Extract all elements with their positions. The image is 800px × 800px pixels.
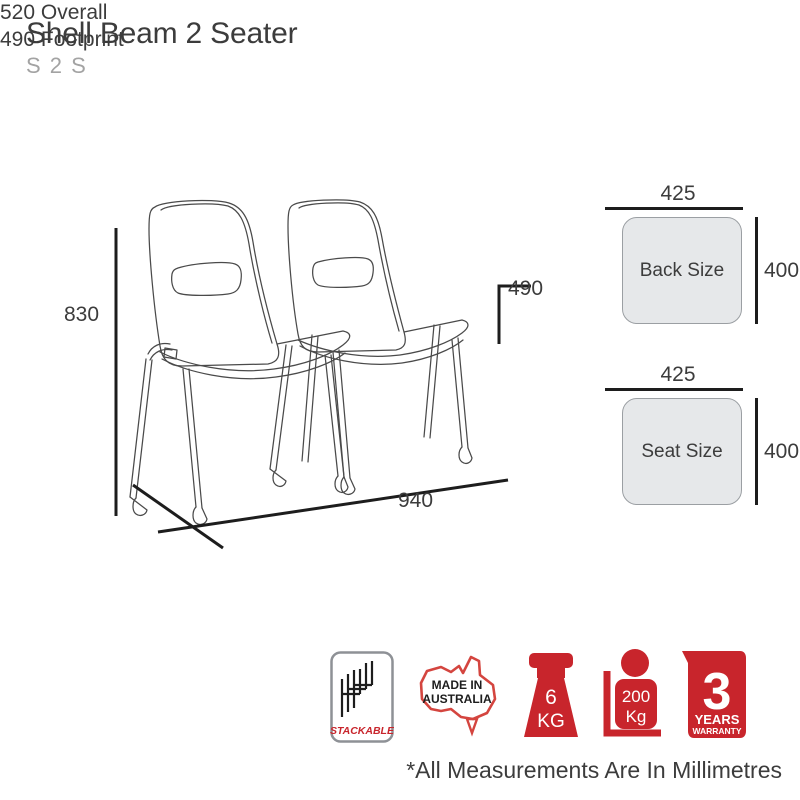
back-size-height-rule xyxy=(755,217,758,324)
seat-size-panel: 425 Seat Size 400 xyxy=(605,363,799,505)
seat-size-height-rule xyxy=(755,398,758,505)
depth-dimension-label: 490 xyxy=(508,277,543,301)
capacity-unit: Kg xyxy=(626,707,647,726)
made-in-label: MADE IN xyxy=(432,678,483,692)
height-dimension-label: 830 xyxy=(64,303,99,327)
back-size-box-label: Back Size xyxy=(640,260,724,282)
page-title: Shell Beam 2 Seater xyxy=(26,18,297,50)
spec-sheet: Shell Beam 2 Seater S 2 S xyxy=(0,0,800,800)
seat-size-width-rule xyxy=(605,388,743,391)
badge-made-in-australia: MADE IN AUSTRALIA xyxy=(407,647,503,748)
capacity-value: 200 xyxy=(622,687,650,706)
product-code: S 2 S xyxy=(26,54,297,77)
badge-stackable: STACKABLE xyxy=(330,651,394,748)
weight-value: 6 xyxy=(545,686,557,709)
height-dimension-line xyxy=(112,228,120,516)
footprint-leader-line xyxy=(128,480,238,560)
back-size-box: Back Size xyxy=(622,217,742,324)
back-size-height-label: 400 xyxy=(764,259,799,283)
seat-size-box: Seat Size xyxy=(622,398,742,505)
title-block: Shell Beam 2 Seater S 2 S xyxy=(26,18,297,77)
back-size-width-rule xyxy=(605,207,743,210)
badge-warranty: 3 YEARS WARRANTY xyxy=(678,645,750,748)
seat-size-box-label: Seat Size xyxy=(641,441,722,463)
measurement-note: *All Measurements Are In Millimetres xyxy=(406,757,782,784)
stackable-label: STACKABLE xyxy=(330,725,394,737)
weight-icon: 6 KG xyxy=(516,647,586,743)
stackable-icon: STACKABLE xyxy=(330,651,394,743)
back-size-width-label: 425 xyxy=(613,182,743,205)
seat-size-height-label: 400 xyxy=(764,440,799,464)
badge-row: STACKABLE MADE IN AUSTRALIA 6 KG xyxy=(330,648,750,748)
warranty-label: WARRANTY xyxy=(692,726,741,736)
back-size-panel: 425 Back Size 400 xyxy=(605,182,799,324)
australia-label: AUSTRALIA xyxy=(422,692,492,706)
weight-unit: KG xyxy=(537,711,564,732)
width-dimension-label: 940 xyxy=(398,489,433,513)
badge-product-weight: 6 KG xyxy=(516,647,586,748)
badge-load-capacity: 200 Kg xyxy=(599,647,665,748)
warranty-tag-icon: 3 YEARS WARRANTY xyxy=(678,645,750,743)
seat-size-width-label: 425 xyxy=(613,363,743,386)
warranty-years-label: YEARS xyxy=(695,712,740,727)
australia-map-icon: MADE IN AUSTRALIA xyxy=(407,647,503,743)
load-capacity-icon: 200 Kg xyxy=(599,647,665,743)
chair-drawing xyxy=(0,150,580,570)
